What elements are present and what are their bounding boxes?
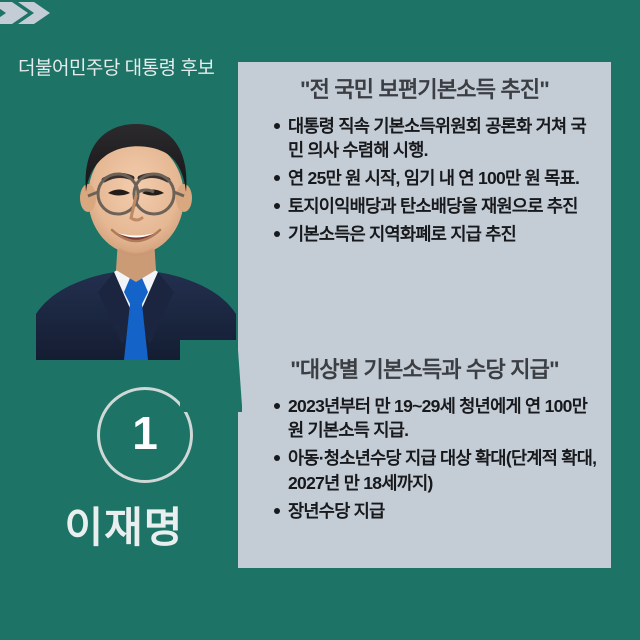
list-item: 토지이익배당과 탄소배당을 재원으로 추진 [274, 194, 599, 219]
section-1-title: "전 국민 보편기본소득 추진" [238, 76, 611, 104]
infographic-card: 더불어민주당 대통령 후보 [0, 0, 640, 640]
party-and-role-label: 더불어민주당 대통령 후보 [18, 58, 248, 81]
panel-notch-arrow [180, 340, 246, 412]
candidate-name: 이재명 [0, 505, 248, 551]
list-item: 대통령 직속 기본소득위원회 공론화 거쳐 국민 의사 수렴해 시행. [274, 114, 599, 164]
list-item: 아동·청소년수당 지급 대상 확대(단계적 확대, 2027년 만 18세까지) [274, 446, 599, 496]
candidate-number-badge: 1 [97, 387, 193, 483]
double-chevron-right-icon [0, 0, 54, 26]
pledge-section-2: "대상별 기본소득과 수당 지급" 2023년부터 만 19~29세 청년에게 … [238, 356, 611, 527]
list-item: 장년수당 지급 [274, 499, 599, 524]
candidate-portrait [30, 92, 242, 360]
list-item: 연 25만 원 시작, 임기 내 연 100만 원 목표. [274, 166, 599, 191]
pledge-section-1: "전 국민 보편기본소득 추진" 대통령 직속 기본소득위원회 공론화 거쳐 국… [238, 76, 611, 250]
list-item: 2023년부터 만 19~29세 청년에게 연 100만 원 기본소득 지급. [274, 394, 599, 444]
pledge-panel: "전 국민 보편기본소득 추진" 대통령 직속 기본소득위원회 공론화 거쳐 국… [238, 62, 611, 568]
section-1-bullets: 대통령 직속 기본소득위원회 공론화 거쳐 국민 의사 수렴해 시행. 연 25… [238, 114, 611, 247]
section-2-title: "대상별 기본소득과 수당 지급" [238, 356, 611, 384]
section-2-bullets: 2023년부터 만 19~29세 청년에게 연 100만 원 기본소득 지급. … [238, 394, 611, 524]
list-item: 기본소득은 지역화폐로 지급 추진 [274, 222, 599, 247]
candidate-number: 1 [132, 410, 158, 456]
